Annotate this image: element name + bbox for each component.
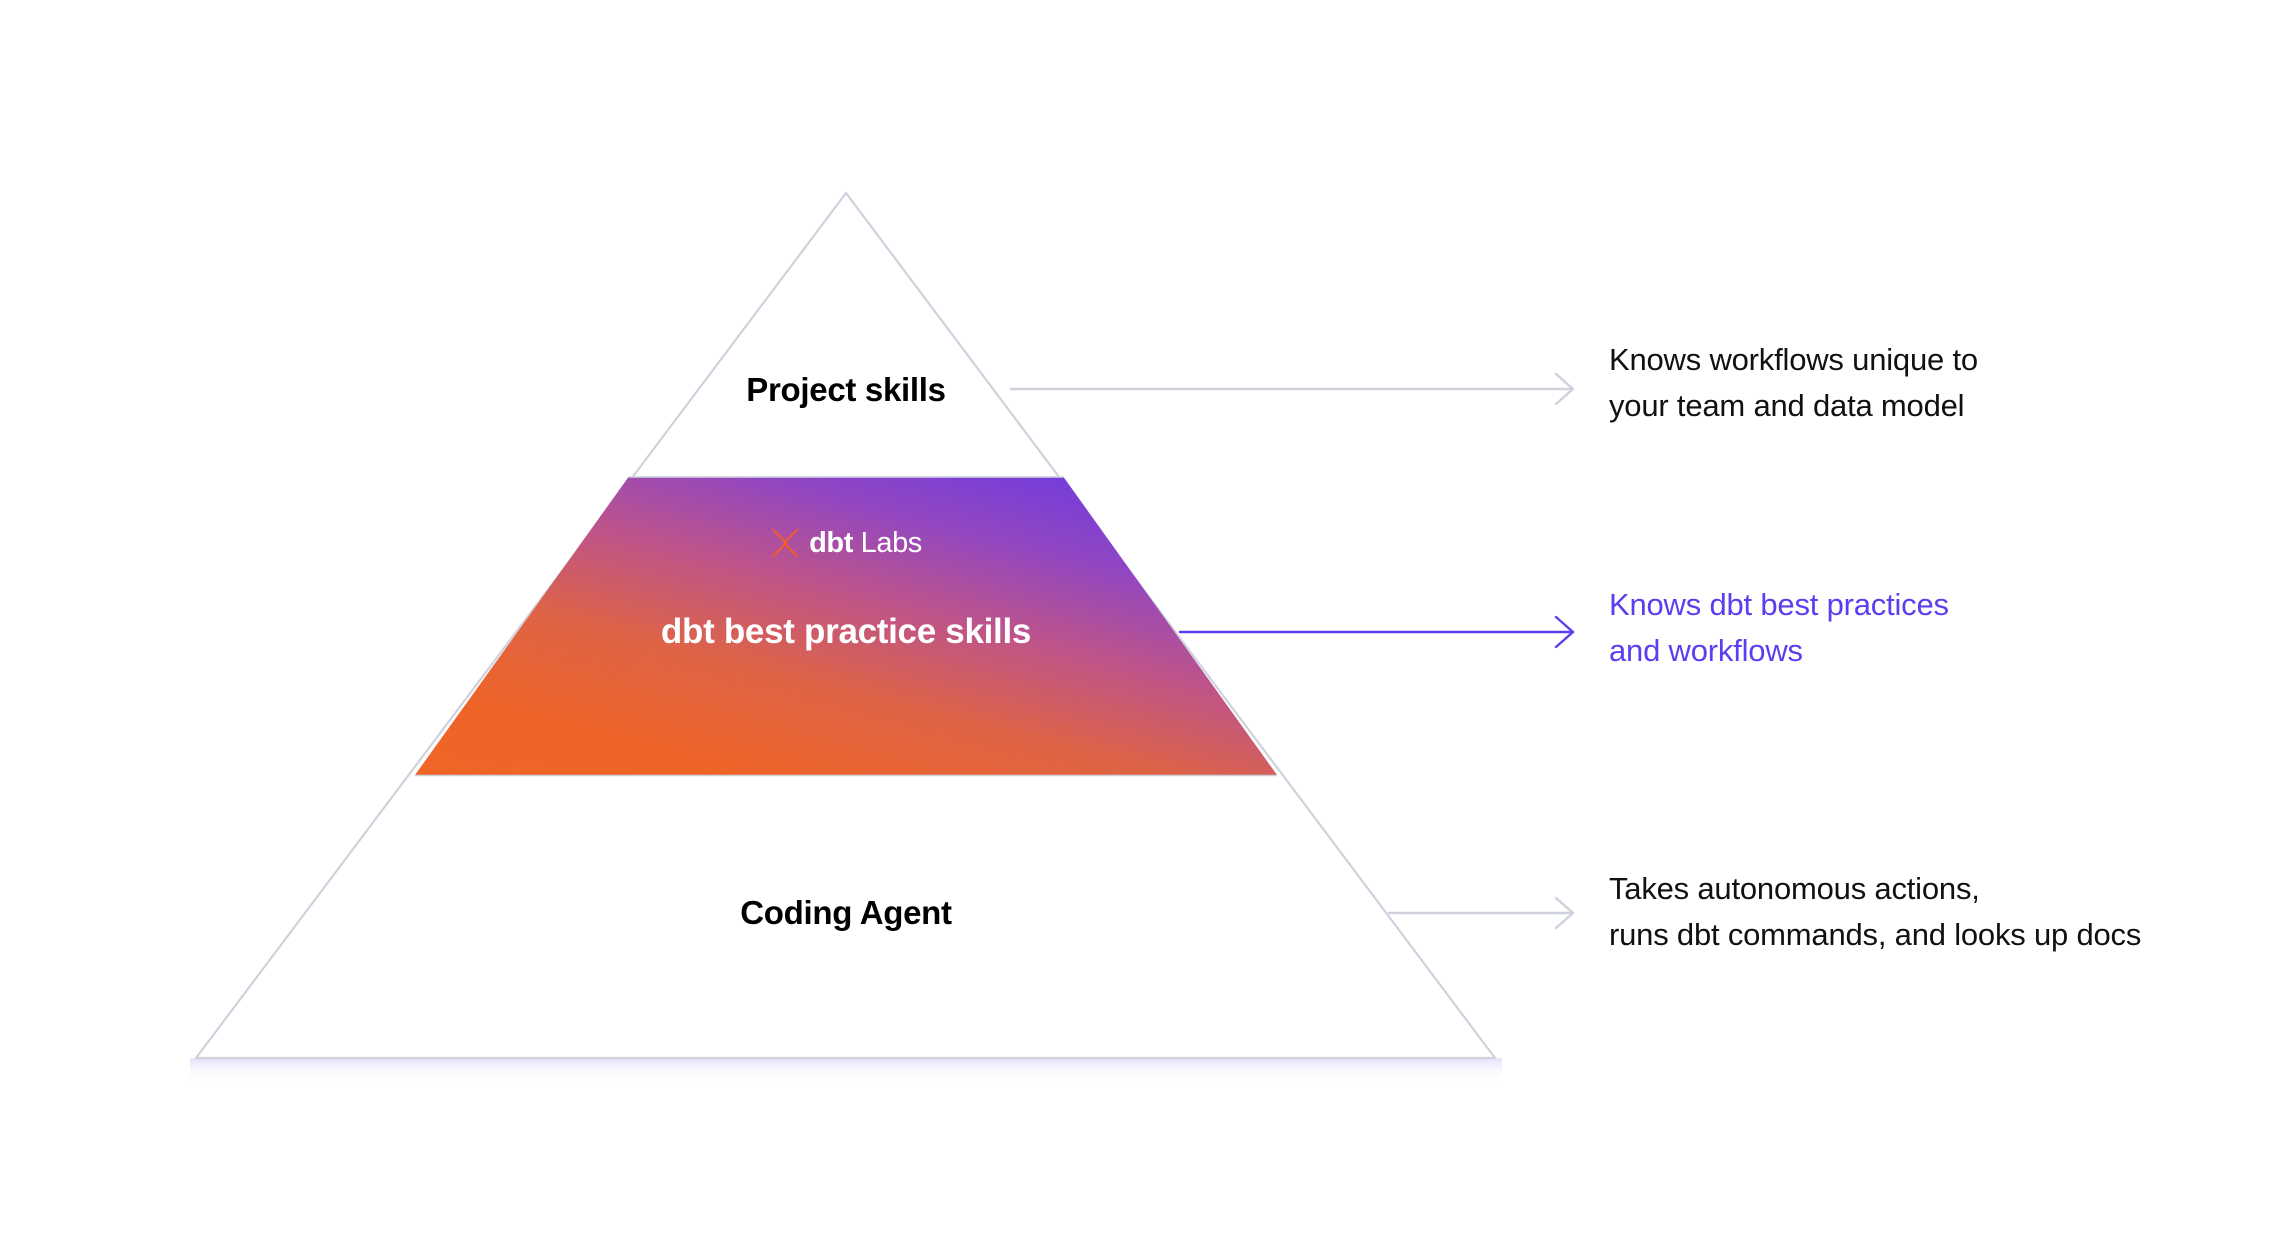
annotation-coding-agent: Takes autonomous actions, runs dbt comma… xyxy=(1609,866,2141,957)
tier-label-coding-agent: Coding Agent xyxy=(740,894,951,932)
annotation-dbt-best-practice-skills: Knows dbt best practices and workflows xyxy=(1609,582,1949,673)
annotation-project-skills: Knows workflows unique to your team and … xyxy=(1609,337,1978,428)
pyramid-base-glow xyxy=(190,1058,1502,1084)
tier-label-dbt-best-practice-skills: dbt best practice skills xyxy=(661,612,1031,652)
arrow-project-skills xyxy=(1011,374,1573,404)
dbt-labs-wordmark: dbt Labs xyxy=(809,529,922,558)
diagram-canvas: Project skills dbt best practice skills … xyxy=(0,0,2272,1250)
arrow-coding-agent xyxy=(1389,898,1573,928)
dbt-labs-logo: dbt Labs xyxy=(770,528,922,558)
wordmark-labs: Labs xyxy=(853,527,922,559)
tier-label-project-skills: Project skills xyxy=(746,371,945,409)
wordmark-dbt: dbt xyxy=(809,527,853,559)
arrow-dbt-best-practice-skills xyxy=(1180,617,1573,647)
dbt-x-mark-icon xyxy=(770,528,800,558)
